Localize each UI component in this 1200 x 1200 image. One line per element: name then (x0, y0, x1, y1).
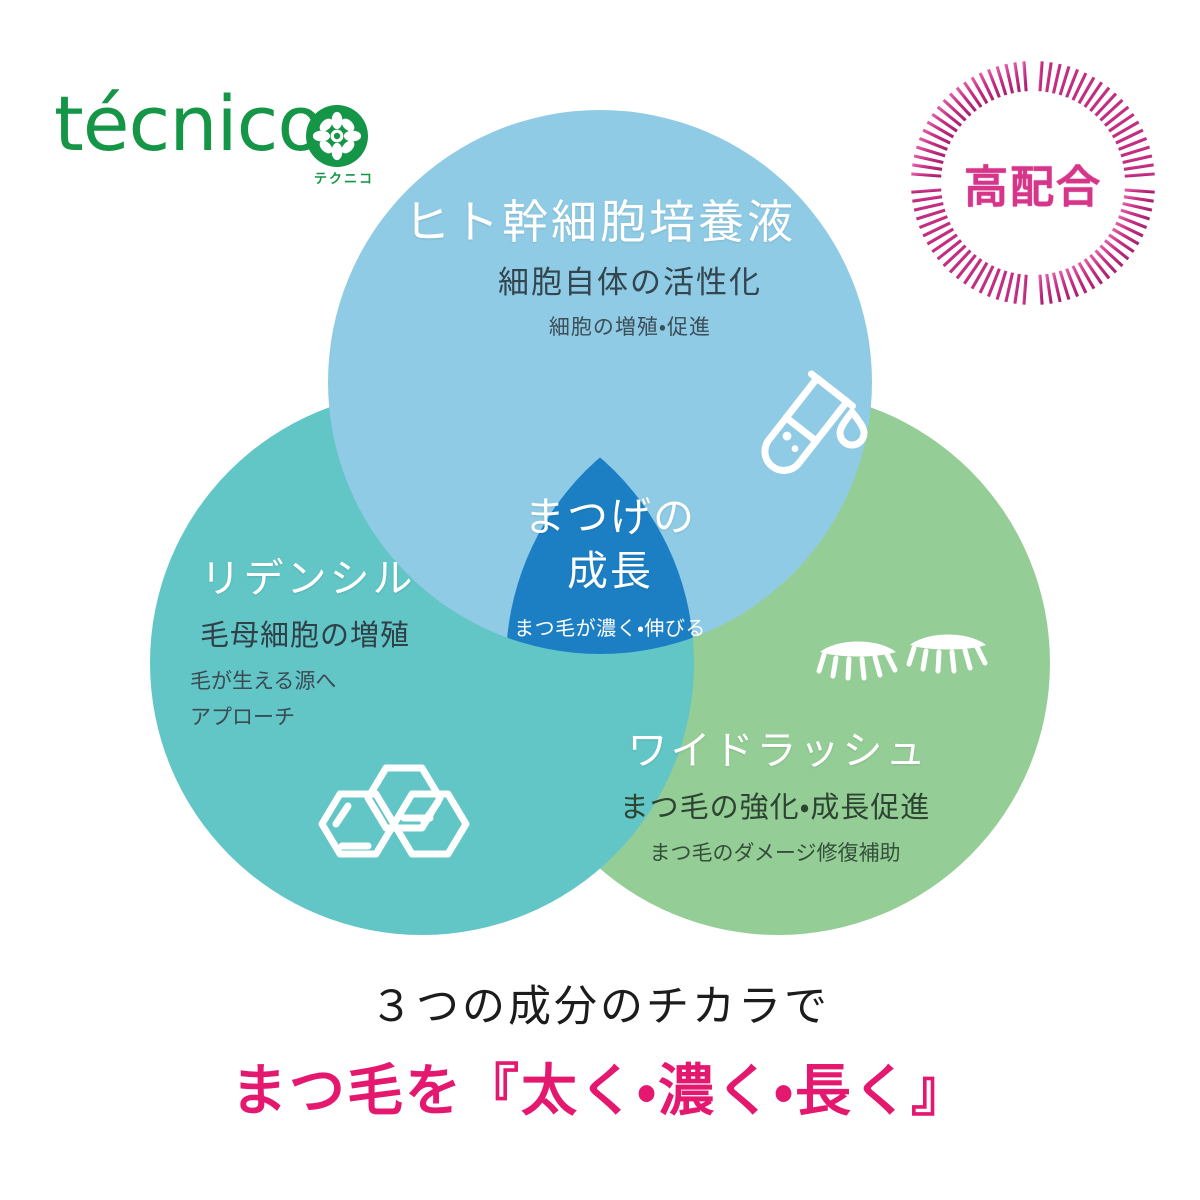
tagline-primary: ３つの成分のチカラで (0, 972, 1200, 1034)
tagline-highlight: まつ毛を『太く・濃く・長く』 (0, 1046, 1200, 1127)
venn-diagram: ヒト幹細胞培養液 細胞自体の活性化 細胞の増殖・促進 リデンシル 毛母細胞の増殖… (0, 0, 1200, 960)
